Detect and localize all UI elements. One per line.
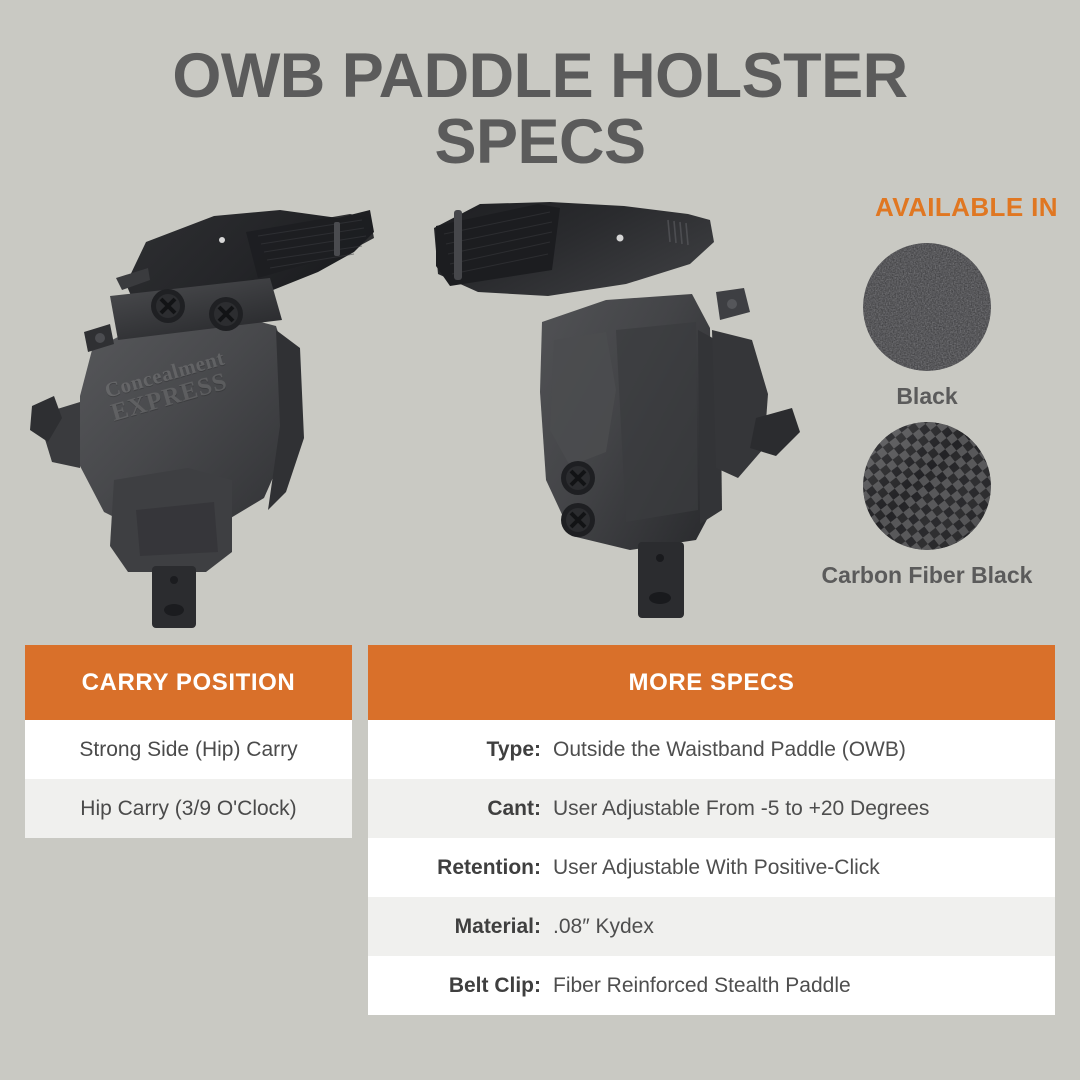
table-row: Belt Clip: Fiber Reinforced Stealth Padd… (368, 956, 1055, 1015)
swatch-black[interactable]: Black (796, 243, 1058, 410)
available-in-heading: AVAILABLE IN (796, 192, 1058, 223)
page-title-line-1: OWB PADDLE HOLSTER (0, 44, 1080, 110)
holster-rear-view (420, 180, 820, 630)
more-specs-table: MORE SPECS Type: Outside the Waistband P… (368, 645, 1055, 1015)
holster-front-view: Concealment EXPRESS (18, 180, 418, 630)
table-row: Strong Side (Hip) Carry (25, 720, 352, 779)
spec-value-type: Outside the Waistband Paddle (OWB) (553, 738, 906, 762)
table-row: Retention: User Adjustable With Positive… (368, 838, 1055, 897)
spec-label-cant: Cant: (368, 797, 553, 821)
carbon-fiber-black-swatch-icon (863, 422, 991, 550)
table-row: Type: Outside the Waistband Paddle (OWB) (368, 720, 1055, 779)
swatch-label-carbon-fiber-black: Carbon Fiber Black (796, 562, 1058, 589)
carry-position-table: CARRY POSITION Strong Side (Hip) Carry H… (25, 645, 352, 838)
table-row: Material: .08″ Kydex (368, 897, 1055, 956)
holster-front-view-illustration (18, 180, 418, 630)
spec-label-retention: Retention: (368, 856, 553, 880)
swatch-label-black: Black (796, 383, 1058, 410)
spec-label-material: Material: (368, 915, 553, 939)
black-swatch-icon (863, 243, 991, 371)
table-row: Cant: User Adjustable From -5 to +20 Deg… (368, 779, 1055, 838)
spec-label-belt-clip: Belt Clip: (368, 974, 553, 998)
page-title-line-2: SPECS (0, 110, 1080, 176)
spec-value-retention: User Adjustable With Positive-Click (553, 856, 880, 880)
table-row: Hip Carry (3/9 O'Clock) (25, 779, 352, 838)
product-gallery: Concealment EXPRESS (0, 180, 800, 630)
carry-position-value: Hip Carry (3/9 O'Clock) (80, 797, 296, 821)
carry-position-value: Strong Side (Hip) Carry (79, 738, 297, 762)
available-in-panel: AVAILABLE IN Blac (796, 192, 1058, 601)
spec-value-belt-clip: Fiber Reinforced Stealth Paddle (553, 974, 851, 998)
carry-position-table-header: CARRY POSITION (25, 645, 352, 720)
more-specs-table-header: MORE SPECS (368, 645, 1055, 720)
holster-rear-view-illustration (420, 180, 820, 630)
spec-label-type: Type: (368, 738, 553, 762)
spec-value-material: .08″ Kydex (553, 915, 654, 939)
swatch-carbon-fiber-black[interactable]: Carbon Fiber Black (796, 422, 1058, 589)
page-title: OWB PADDLE HOLSTER SPECS (0, 44, 1080, 175)
spec-value-cant: User Adjustable From -5 to +20 Degrees (553, 797, 929, 821)
